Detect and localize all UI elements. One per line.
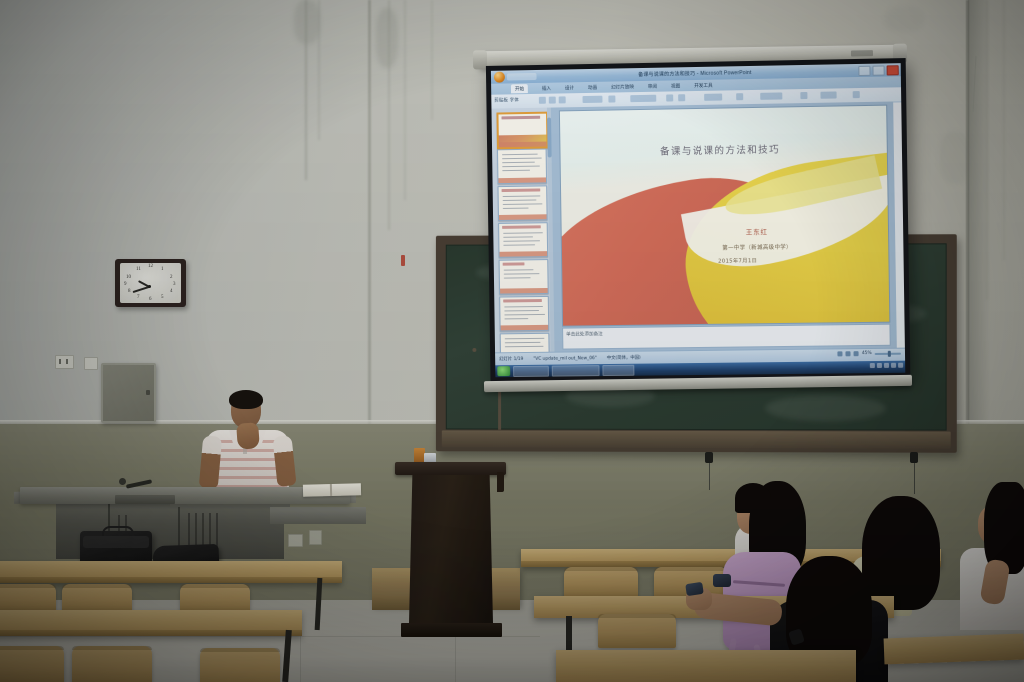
student-chair xyxy=(200,648,280,682)
panel-latch xyxy=(146,390,150,395)
language-indicator: 中文(简体，中国) xyxy=(607,355,641,361)
tray-icon[interactable] xyxy=(898,363,903,368)
book-spine xyxy=(330,484,332,496)
slide-thumbnail[interactable] xyxy=(498,185,548,221)
lectern-base xyxy=(401,623,502,637)
zoom-slider-knob[interactable] xyxy=(888,350,891,356)
ribbon-tab-review[interactable]: 审阅 xyxy=(648,83,657,89)
cable-clip-right xyxy=(910,452,918,463)
current-slide[interactable]: 备课与说课的方法和技巧 王东红 第一中学（新城高级中学） 2015年7月1日 xyxy=(559,105,891,327)
zoom-level: 45% xyxy=(862,351,872,356)
keyboard-tray[interactable] xyxy=(115,495,175,504)
classroom-photo: 12 1 2 3 4 5 6 7 8 9 10 11 xyxy=(0,0,1024,682)
student-chair xyxy=(0,584,56,612)
projection-screen: 备课与说课的方法和技巧 - Microsoft PowerPoint 开始 插入… xyxy=(486,58,911,382)
microphone-head[interactable] xyxy=(119,478,126,485)
bag-handle xyxy=(102,526,134,536)
projection-surface: 备课与说课的方法和技巧 - Microsoft PowerPoint 开始 插入… xyxy=(491,63,905,377)
lectern-body xyxy=(409,475,493,623)
chalk-tray xyxy=(442,430,951,448)
ribbon-group-label: 剪贴板 字体 xyxy=(494,97,519,103)
sorter-view-icon[interactable] xyxy=(846,351,851,356)
electrical-panel-box xyxy=(101,363,156,423)
console-drawer[interactable] xyxy=(270,507,366,524)
slideshow-view-icon[interactable] xyxy=(854,351,859,356)
student-chair xyxy=(598,614,676,648)
student-chair xyxy=(72,646,152,682)
console-worktop xyxy=(20,487,350,504)
student-chair xyxy=(180,584,250,612)
ribbon-tab-design[interactable]: 设计 xyxy=(565,85,574,91)
roller-brand-label xyxy=(851,50,873,56)
quick-access-toolbar[interactable] xyxy=(507,73,537,81)
slide-thumbnail-pane[interactable] xyxy=(491,108,555,354)
taskbar-item[interactable] xyxy=(602,364,634,375)
student-chair xyxy=(0,646,64,682)
slide-thumbnail[interactable] xyxy=(499,296,549,331)
ribbon-tab-home[interactable]: 开始 xyxy=(511,84,528,93)
bag-flap xyxy=(83,536,149,548)
tray-icon[interactable] xyxy=(877,363,882,368)
clock-center-pin xyxy=(148,285,151,288)
wall-pilaster xyxy=(968,0,1024,424)
tray-icon[interactable] xyxy=(884,363,889,368)
slide-thumbnail[interactable] xyxy=(498,222,548,258)
slide-thumbnail[interactable] xyxy=(499,259,549,295)
backpack-tag xyxy=(713,574,731,587)
held-phone xyxy=(685,582,704,596)
ppt-document-title: 备课与说课的方法和技巧 - Microsoft PowerPoint xyxy=(638,69,752,78)
ribbon-tab-developer[interactable]: 开发工具 xyxy=(694,82,712,88)
ribbon-tab-slideshow[interactable]: 幻灯片放映 xyxy=(611,84,634,90)
theme-name: "VC update_mil out_New_06" xyxy=(533,356,597,362)
tray-icon[interactable] xyxy=(891,363,896,368)
open-book xyxy=(303,483,361,497)
presenter xyxy=(205,392,291,500)
taskbar-item[interactable] xyxy=(552,365,600,376)
ribbon-tab-animations[interactable]: 动画 xyxy=(588,84,597,90)
zoom-slider[interactable] xyxy=(875,352,901,354)
student-hair-front xyxy=(735,483,771,513)
notes-placeholder-text: 单击此处添加备注 xyxy=(566,331,603,337)
cable-clip-left xyxy=(705,452,713,463)
student-chair xyxy=(564,567,638,597)
student-hair xyxy=(862,496,940,610)
minimize-icon[interactable] xyxy=(858,66,870,76)
light-switch xyxy=(84,357,98,370)
taskbar-item[interactable] xyxy=(513,365,549,376)
slide-counter: 幻灯片 1/19 xyxy=(499,356,523,362)
maximize-icon[interactable] xyxy=(872,65,884,75)
slide-thumbnail[interactable] xyxy=(500,333,550,354)
lectern xyxy=(403,462,498,637)
presenter-hair xyxy=(229,390,263,409)
wall-clock: 12 1 2 3 4 5 6 7 8 9 10 11 xyxy=(115,259,186,307)
student-desk xyxy=(556,650,856,682)
presenter-hands xyxy=(236,422,260,449)
ribbon-tab-insert[interactable]: 插入 xyxy=(542,85,551,91)
normal-view-icon[interactable] xyxy=(838,351,843,356)
tray-icon[interactable] xyxy=(870,363,875,368)
student-desk xyxy=(884,634,1024,665)
slide-editing-area[interactable]: 备课与说课的方法和技巧 王东红 第一中学（新城高级中学） 2015年7月1日 单… xyxy=(551,101,897,352)
wall-outlet xyxy=(55,355,74,369)
office-orb-icon[interactable] xyxy=(494,72,505,83)
wall-red-mark xyxy=(401,255,405,266)
slide-thumbnail[interactable] xyxy=(496,112,548,150)
start-button[interactable] xyxy=(497,366,510,376)
close-icon[interactable] xyxy=(887,65,899,75)
backpack-zipper xyxy=(733,580,785,587)
notes-pane[interactable]: 单击此处添加备注 xyxy=(562,324,891,350)
slide-thumbnail[interactable] xyxy=(497,149,547,185)
ribbon-tab-view[interactable]: 视图 xyxy=(671,83,680,89)
lectern-top xyxy=(395,462,506,475)
clock-face: 12 1 2 3 4 5 6 7 8 9 10 11 xyxy=(120,263,181,303)
window-controls[interactable] xyxy=(858,65,898,76)
system-tray[interactable] xyxy=(870,363,903,368)
pilaster-edge xyxy=(966,0,969,424)
student-chair xyxy=(62,584,132,612)
student-desk xyxy=(0,610,302,636)
lectern-side-arm xyxy=(497,472,504,492)
powerpoint-window: 备课与说课的方法和技巧 - Microsoft PowerPoint 开始 插入… xyxy=(491,63,905,377)
zoom-control[interactable]: 45% xyxy=(838,351,901,357)
wall-seam xyxy=(368,0,371,424)
student-desk xyxy=(0,561,342,583)
